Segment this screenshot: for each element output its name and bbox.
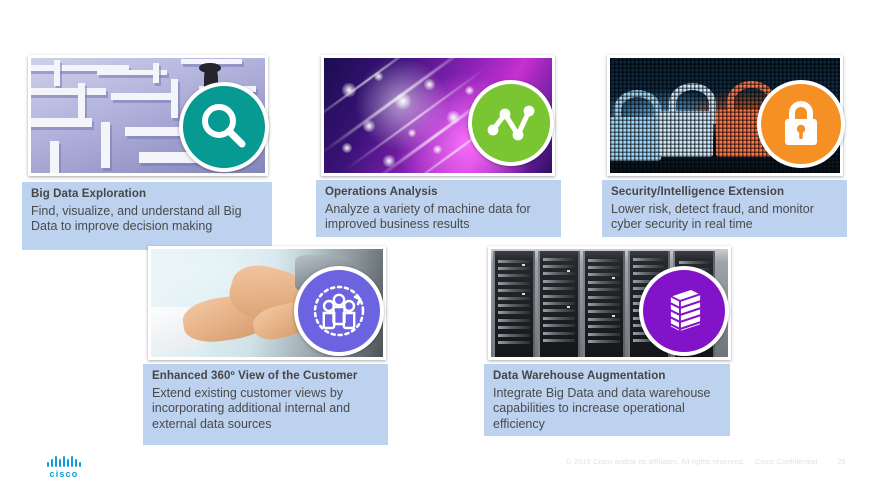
cisco-logo: cisco: [38, 456, 90, 480]
card-body: Integrate Big Data and data warehouse ca…: [493, 386, 722, 433]
line-chart-icon: [487, 102, 535, 144]
fiber-optics-photo: [321, 55, 555, 176]
cisco-logo-bars: [38, 456, 90, 467]
slide-canvas: Big Data Exploration Find, visualize, an…: [0, 0, 871, 488]
server-stack-icon-badge[interactable]: [639, 266, 729, 356]
slide-footer: © 2016 Cisco and/or its affiliates. All …: [566, 457, 846, 466]
caption-box-enhanced-360-view-of-the-customer: Enhanced 360º View of the Customer Exten…: [143, 364, 388, 445]
card-title: Enhanced 360º View of the Customer: [152, 370, 380, 384]
footer-page-number: 29: [837, 457, 846, 466]
card-title: Operations Analysis: [325, 186, 553, 200]
caption-box-operations-analysis: Operations Analysis Analyze a variety of…: [316, 180, 561, 237]
footer-copyright: © 2016 Cisco and/or its affiliates. All …: [566, 457, 745, 466]
caption-box-data-warehouse-augmentation: Data Warehouse Augmentation Integrate Bi…: [484, 364, 730, 436]
card-body: Lower risk, detect fraud, and monitor cy…: [611, 202, 839, 233]
line-chart-icon-badge[interactable]: [468, 80, 554, 166]
magnifier-icon-badge[interactable]: [179, 82, 269, 172]
card-title: Security/Intelligence Extension: [611, 186, 839, 200]
people-360-icon: [311, 283, 367, 339]
footer-confidential: Cisco Confidential: [755, 457, 817, 466]
cisco-wordmark: cisco: [38, 469, 90, 479]
card-title: Data Warehouse Augmentation: [493, 370, 722, 384]
card-body: Analyze a variety of machine data for im…: [325, 202, 553, 233]
padlocks-photo: [607, 55, 843, 176]
caption-box-security-intelligence-extension: Security/Intelligence Extension Lower ri…: [602, 180, 847, 237]
magnifier-icon: [199, 102, 249, 152]
server-stack-icon: [659, 284, 709, 338]
card-body: Find, visualize, and understand all Big …: [31, 204, 264, 235]
card-title: Big Data Exploration: [31, 188, 264, 202]
card-body: Extend existing customer views by incorp…: [152, 386, 380, 433]
server-racks-photo: [488, 246, 731, 360]
people-360-icon-badge[interactable]: [294, 266, 384, 356]
padlock-icon: [779, 99, 823, 149]
maze-photo: [28, 55, 268, 176]
handshake-photo: [148, 246, 386, 360]
padlock-icon-badge[interactable]: [757, 80, 845, 168]
caption-box-big-data-exploration: Big Data Exploration Find, visualize, an…: [22, 182, 272, 250]
